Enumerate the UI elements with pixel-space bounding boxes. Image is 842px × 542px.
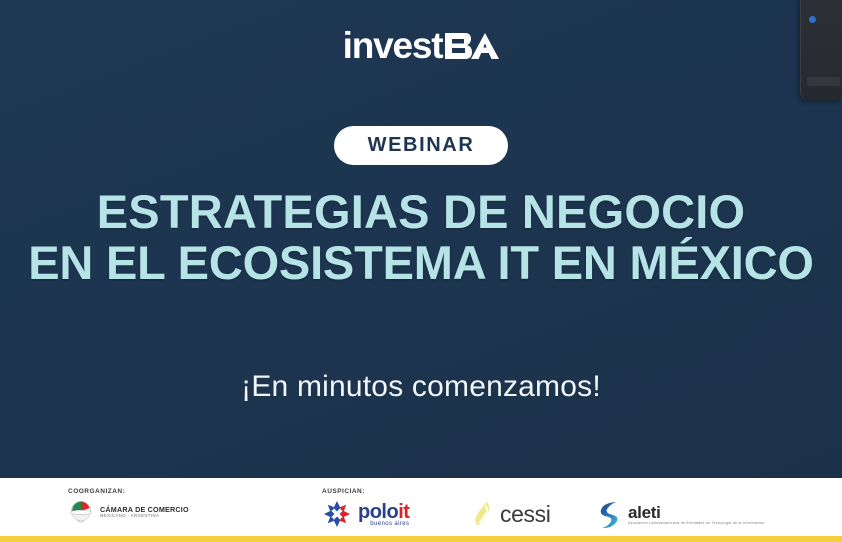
webinar-badge-row: WEBINAR: [0, 126, 842, 165]
logo-camara-de-comercio[interactable]: CÁMARA DE COMERCIO MEXICANO - ARGENTINA: [68, 499, 189, 525]
video-call-participant-panel[interactable]: [800, 0, 842, 100]
cessi-slash-icon: [470, 499, 494, 529]
page-title-line-1: ESTRATEGIAS DE NEGOCIO: [0, 186, 842, 237]
status-dot-icon: [809, 16, 816, 23]
footer-group-cessi: cessi: [470, 478, 550, 529]
page-subtitle: ¡En minutos comenzamos!: [0, 370, 842, 404]
footer-group-aleti: aleti Asociación Latinoamericana de Enti…: [596, 478, 765, 531]
logo-name: polo: [358, 501, 398, 523]
logo-tagline: MEXICANO - ARGENTINA: [100, 514, 189, 518]
sponsor-footer: COORGANIZAN: CÁ: [0, 478, 842, 536]
footer-accent-bar: [0, 536, 842, 542]
logo-name: aleti: [628, 504, 765, 521]
investba-ba-monogram-icon: [443, 29, 499, 63]
page-title-line-2: EN EL ECOSISTEMA IT EN MÉXICO: [0, 237, 842, 288]
footer-group-spacer: [470, 488, 550, 495]
page-title: ESTRATEGIAS DE NEGOCIO EN EL ECOSISTEMA …: [0, 186, 842, 288]
camara-comercio-globe-icon: [68, 499, 94, 525]
logo-name: cessi: [500, 503, 550, 526]
footer-group-auspician: AUSPICIAN:: [322, 478, 409, 529]
logo-aleti[interactable]: aleti Asociación Latinoamericana de Enti…: [596, 499, 765, 531]
footer-group-spacer: [596, 488, 765, 495]
logo-name: CÁMARA DE COMERCIO: [100, 506, 189, 514]
status-badge: WEBINAR: [334, 126, 509, 165]
slide-background: invest WEBINAR ESTRATEGIAS DE NEGOCIO EN: [0, 0, 842, 478]
panel-control-strip[interactable]: [807, 77, 840, 86]
logo-polo-it[interactable]: poloit buenos aires: [322, 499, 409, 529]
webinar-slide-screen: invest WEBINAR ESTRATEGIAS DE NEGOCIO EN: [0, 0, 842, 542]
footer-group-label: COORGANIZAN:: [68, 488, 189, 495]
logo-name-accent: it: [398, 501, 409, 523]
aleti-swoosh-icon: [596, 499, 622, 531]
footer-group-label: AUSPICIAN:: [322, 488, 409, 495]
investba-logo: invest: [0, 27, 842, 64]
brand-wordmark: invest: [343, 27, 443, 64]
footer-group-coorganizan: COORGANIZAN: CÁ: [68, 478, 189, 525]
logo-cessi[interactable]: cessi: [470, 499, 550, 529]
polo-it-pinwheel-icon: [322, 499, 352, 529]
logo-tagline: Asociación Latinoamericana de Entidades …: [628, 522, 765, 526]
